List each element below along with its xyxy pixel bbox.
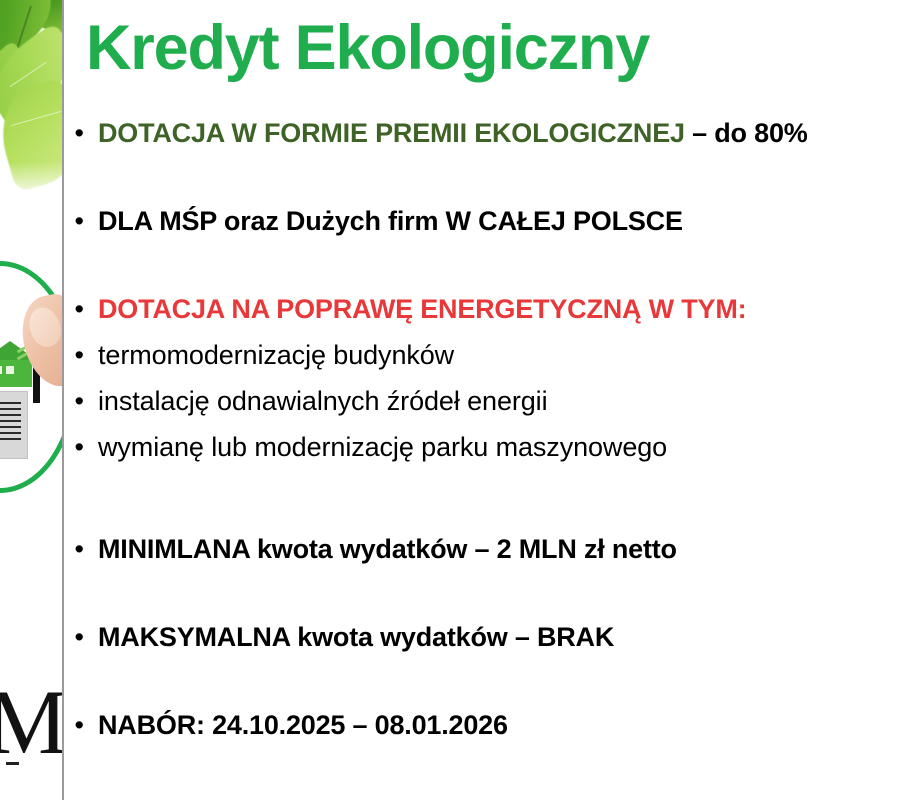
bullet-dot-icon: • — [64, 434, 98, 461]
green-leaves-photo — [0, 0, 63, 210]
spacer — [64, 150, 900, 206]
bullet-dot-icon: • — [64, 342, 98, 369]
list-item: • NABÓR: 24.10.2025 – 08.01.2026 — [64, 710, 900, 742]
bullet-dot-icon: • — [64, 208, 98, 235]
list-item-text: wymianę lub modernizację parku maszynowe… — [98, 432, 667, 463]
spacer — [64, 326, 900, 340]
list-item-text: DOTACJA W FORMIE PREMII EKOLOGICZNEJ – d… — [98, 118, 808, 149]
spacer — [64, 520, 900, 534]
corner-dash — [6, 762, 19, 765]
list-item-text: MINIMLANA kwota wydatków – 2 MLN zł nett… — [98, 534, 677, 565]
list-item: • termomodernizację budynków — [64, 340, 900, 372]
eco-circle-graphic — [0, 255, 63, 515]
barcode-card — [0, 391, 28, 459]
spacer — [64, 238, 900, 294]
spacer — [64, 566, 900, 622]
list-item-text: NABÓR: 24.10.2025 – 08.01.2026 — [98, 710, 508, 741]
house-window — [0, 366, 2, 374]
list-item: • DOTACJA W FORMIE PREMII EKOLOGICZNEJ –… — [64, 118, 900, 150]
list-item-segment: – do 80% — [685, 118, 808, 148]
list-item-text: instalację odnawialnych źródeł energii — [98, 386, 547, 417]
spacer — [64, 372, 900, 386]
list-item-text: DLA MŚP oraz Dużych firm W CAŁEJ POLSCE — [98, 206, 683, 237]
list-item: • MINIMLANA kwota wydatków – 2 MLN zł ne… — [64, 534, 900, 566]
house-window — [6, 366, 14, 374]
list-item: • instalację odnawialnych źródeł energii — [64, 386, 900, 418]
house-body — [0, 360, 32, 387]
list-item-segment: DOTACJA W FORMIE PREMII EKOLOGICZNEJ — [98, 118, 685, 148]
bullet-dot-icon: • — [64, 536, 98, 563]
bullet-dot-icon: • — [64, 624, 98, 651]
spacer — [64, 654, 900, 710]
slide-content: Kredyt Ekologiczny • DOTACJA W FORMIE PR… — [64, 0, 900, 800]
list-item: • MAKSYMALNA kwota wydatków – BRAK — [64, 622, 900, 654]
bullet-dot-icon: • — [64, 388, 98, 415]
list-item: • DOTACJA NA POPRAWĘ ENERGETYCZNĄ W TYM: — [64, 294, 900, 326]
bullet-list: • DOTACJA W FORMIE PREMII EKOLOGICZNEJ –… — [64, 118, 900, 742]
bullet-dot-icon: • — [64, 120, 98, 147]
list-item-text: termomodernizację budynków — [98, 340, 454, 371]
leaf-photo-fade — [0, 162, 63, 210]
page-title: Kredyt Ekologiczny — [86, 12, 649, 84]
list-item: • DLA MŚP oraz Dużych firm W CAŁEJ POLSC… — [64, 206, 900, 238]
list-item-text: MAKSYMALNA kwota wydatków – BRAK — [98, 622, 614, 653]
slide-root: M Kredyt Ekologiczny • DOTACJA W FORMIE … — [0, 0, 900, 800]
bullet-dot-icon: • — [64, 712, 98, 739]
bullet-dot-icon: • — [64, 296, 98, 323]
left-decorative-strip: M — [0, 0, 63, 800]
spacer — [64, 418, 900, 432]
corner-letter-glyph: M — [0, 676, 63, 768]
list-item: • wymianę lub modernizację parku maszyno… — [64, 432, 900, 464]
spacer — [64, 464, 900, 520]
list-item-text: DOTACJA NA POPRAWĘ ENERGETYCZNĄ W TYM: — [98, 294, 746, 325]
